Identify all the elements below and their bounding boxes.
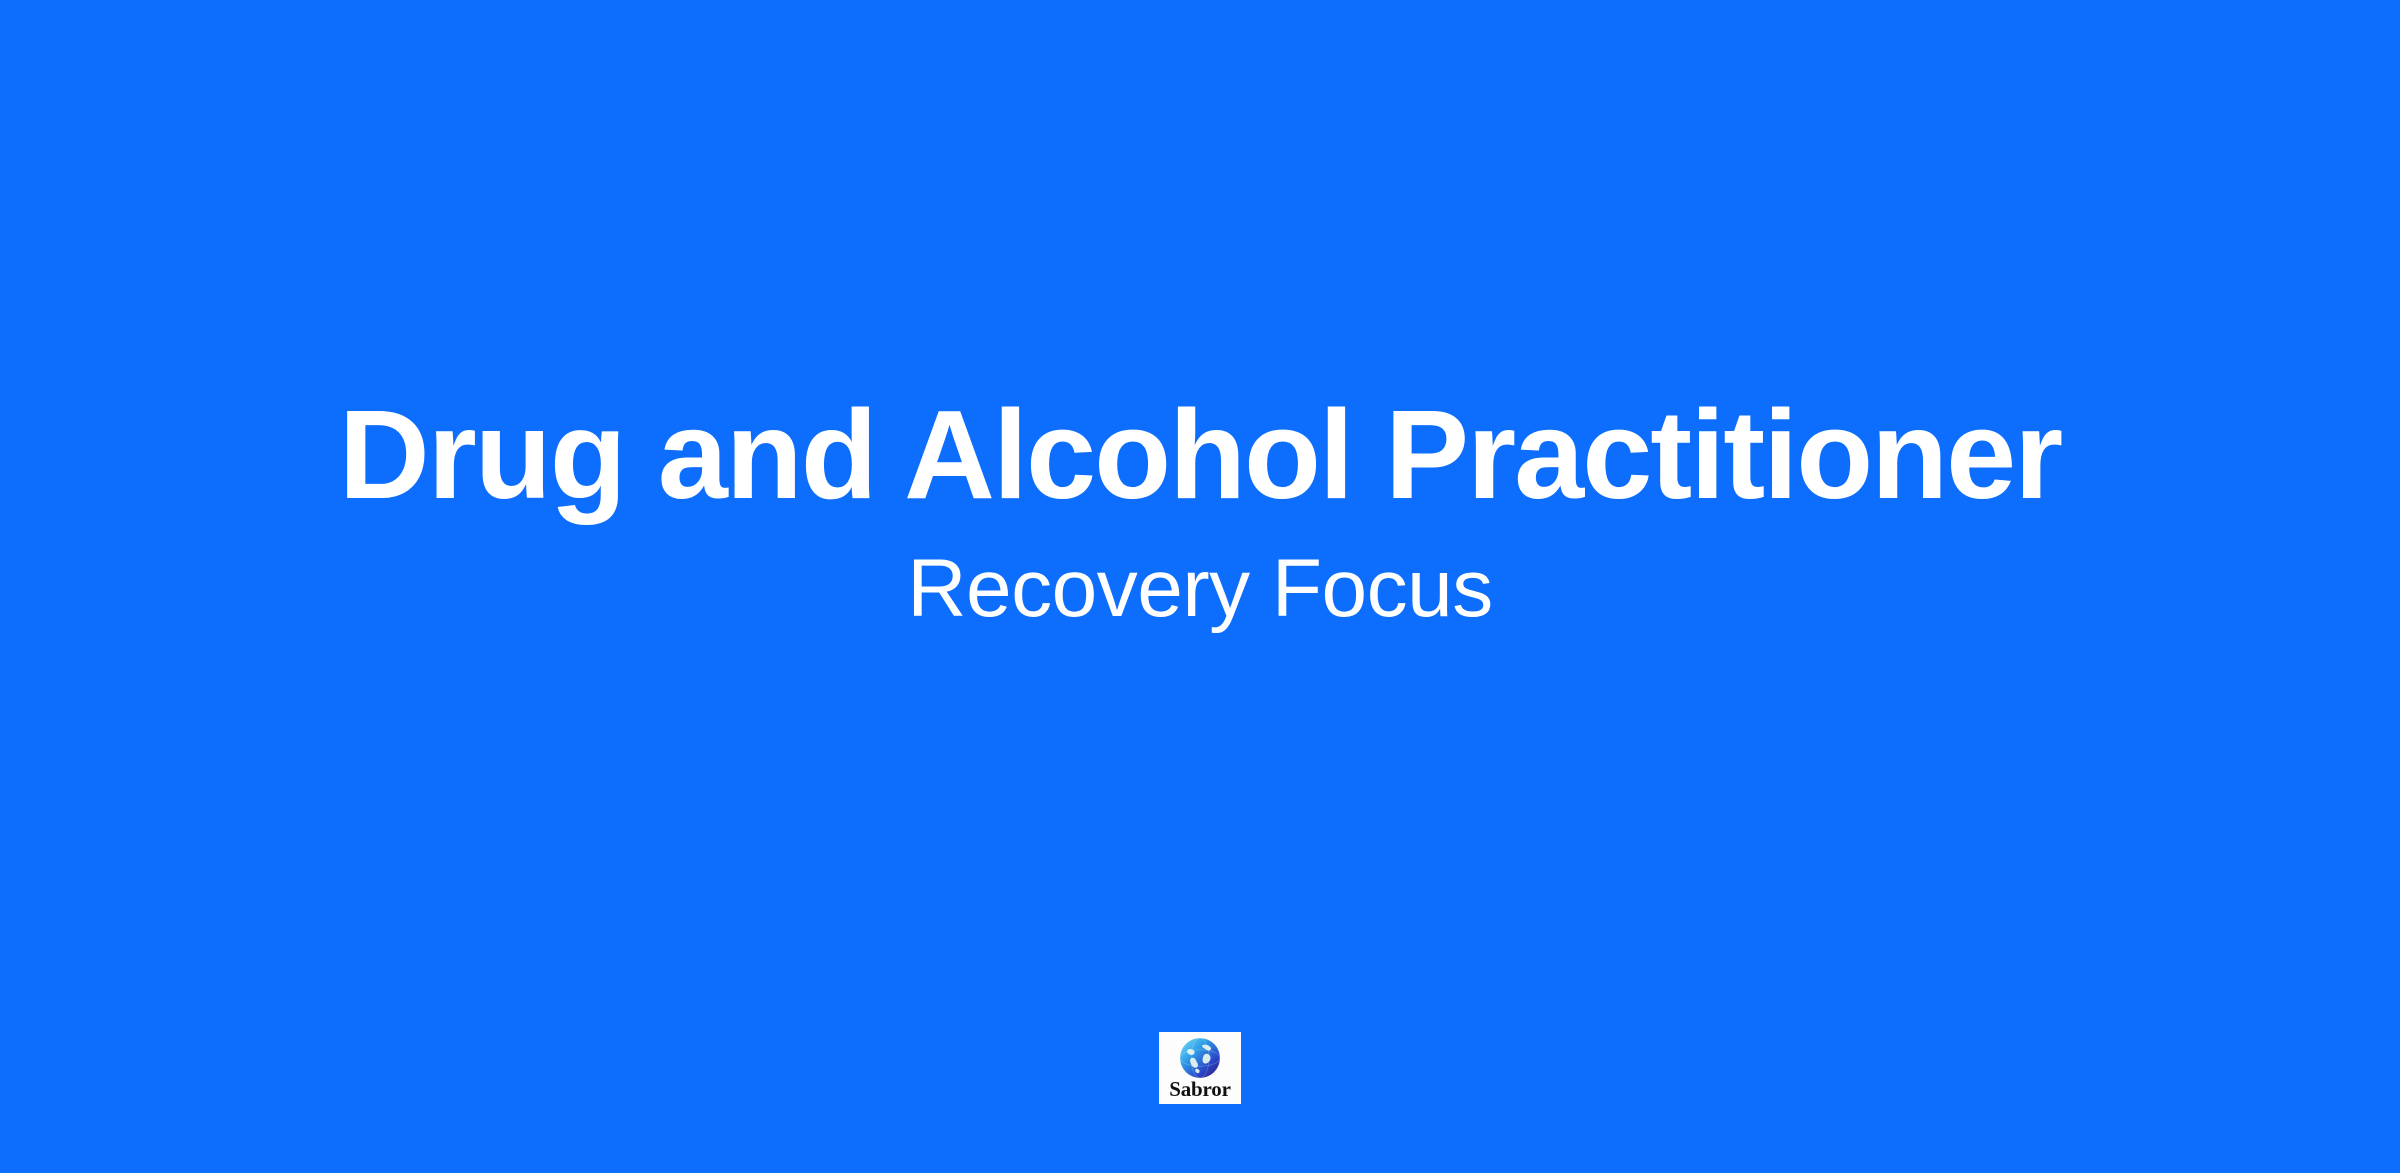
title-block: Drug and Alcohol Practitioner Recovery F… — [0, 392, 2400, 630]
brand-badge[interactable]: Sabror — [1159, 1032, 1241, 1104]
brand-name: Sabror — [1169, 1079, 1230, 1100]
page-title: Drug and Alcohol Practitioner — [0, 392, 2400, 518]
page-subtitle: Recovery Focus — [0, 518, 2400, 630]
title-slide: Drug and Alcohol Practitioner Recovery F… — [0, 0, 2400, 1173]
globe-icon — [1178, 1036, 1222, 1080]
